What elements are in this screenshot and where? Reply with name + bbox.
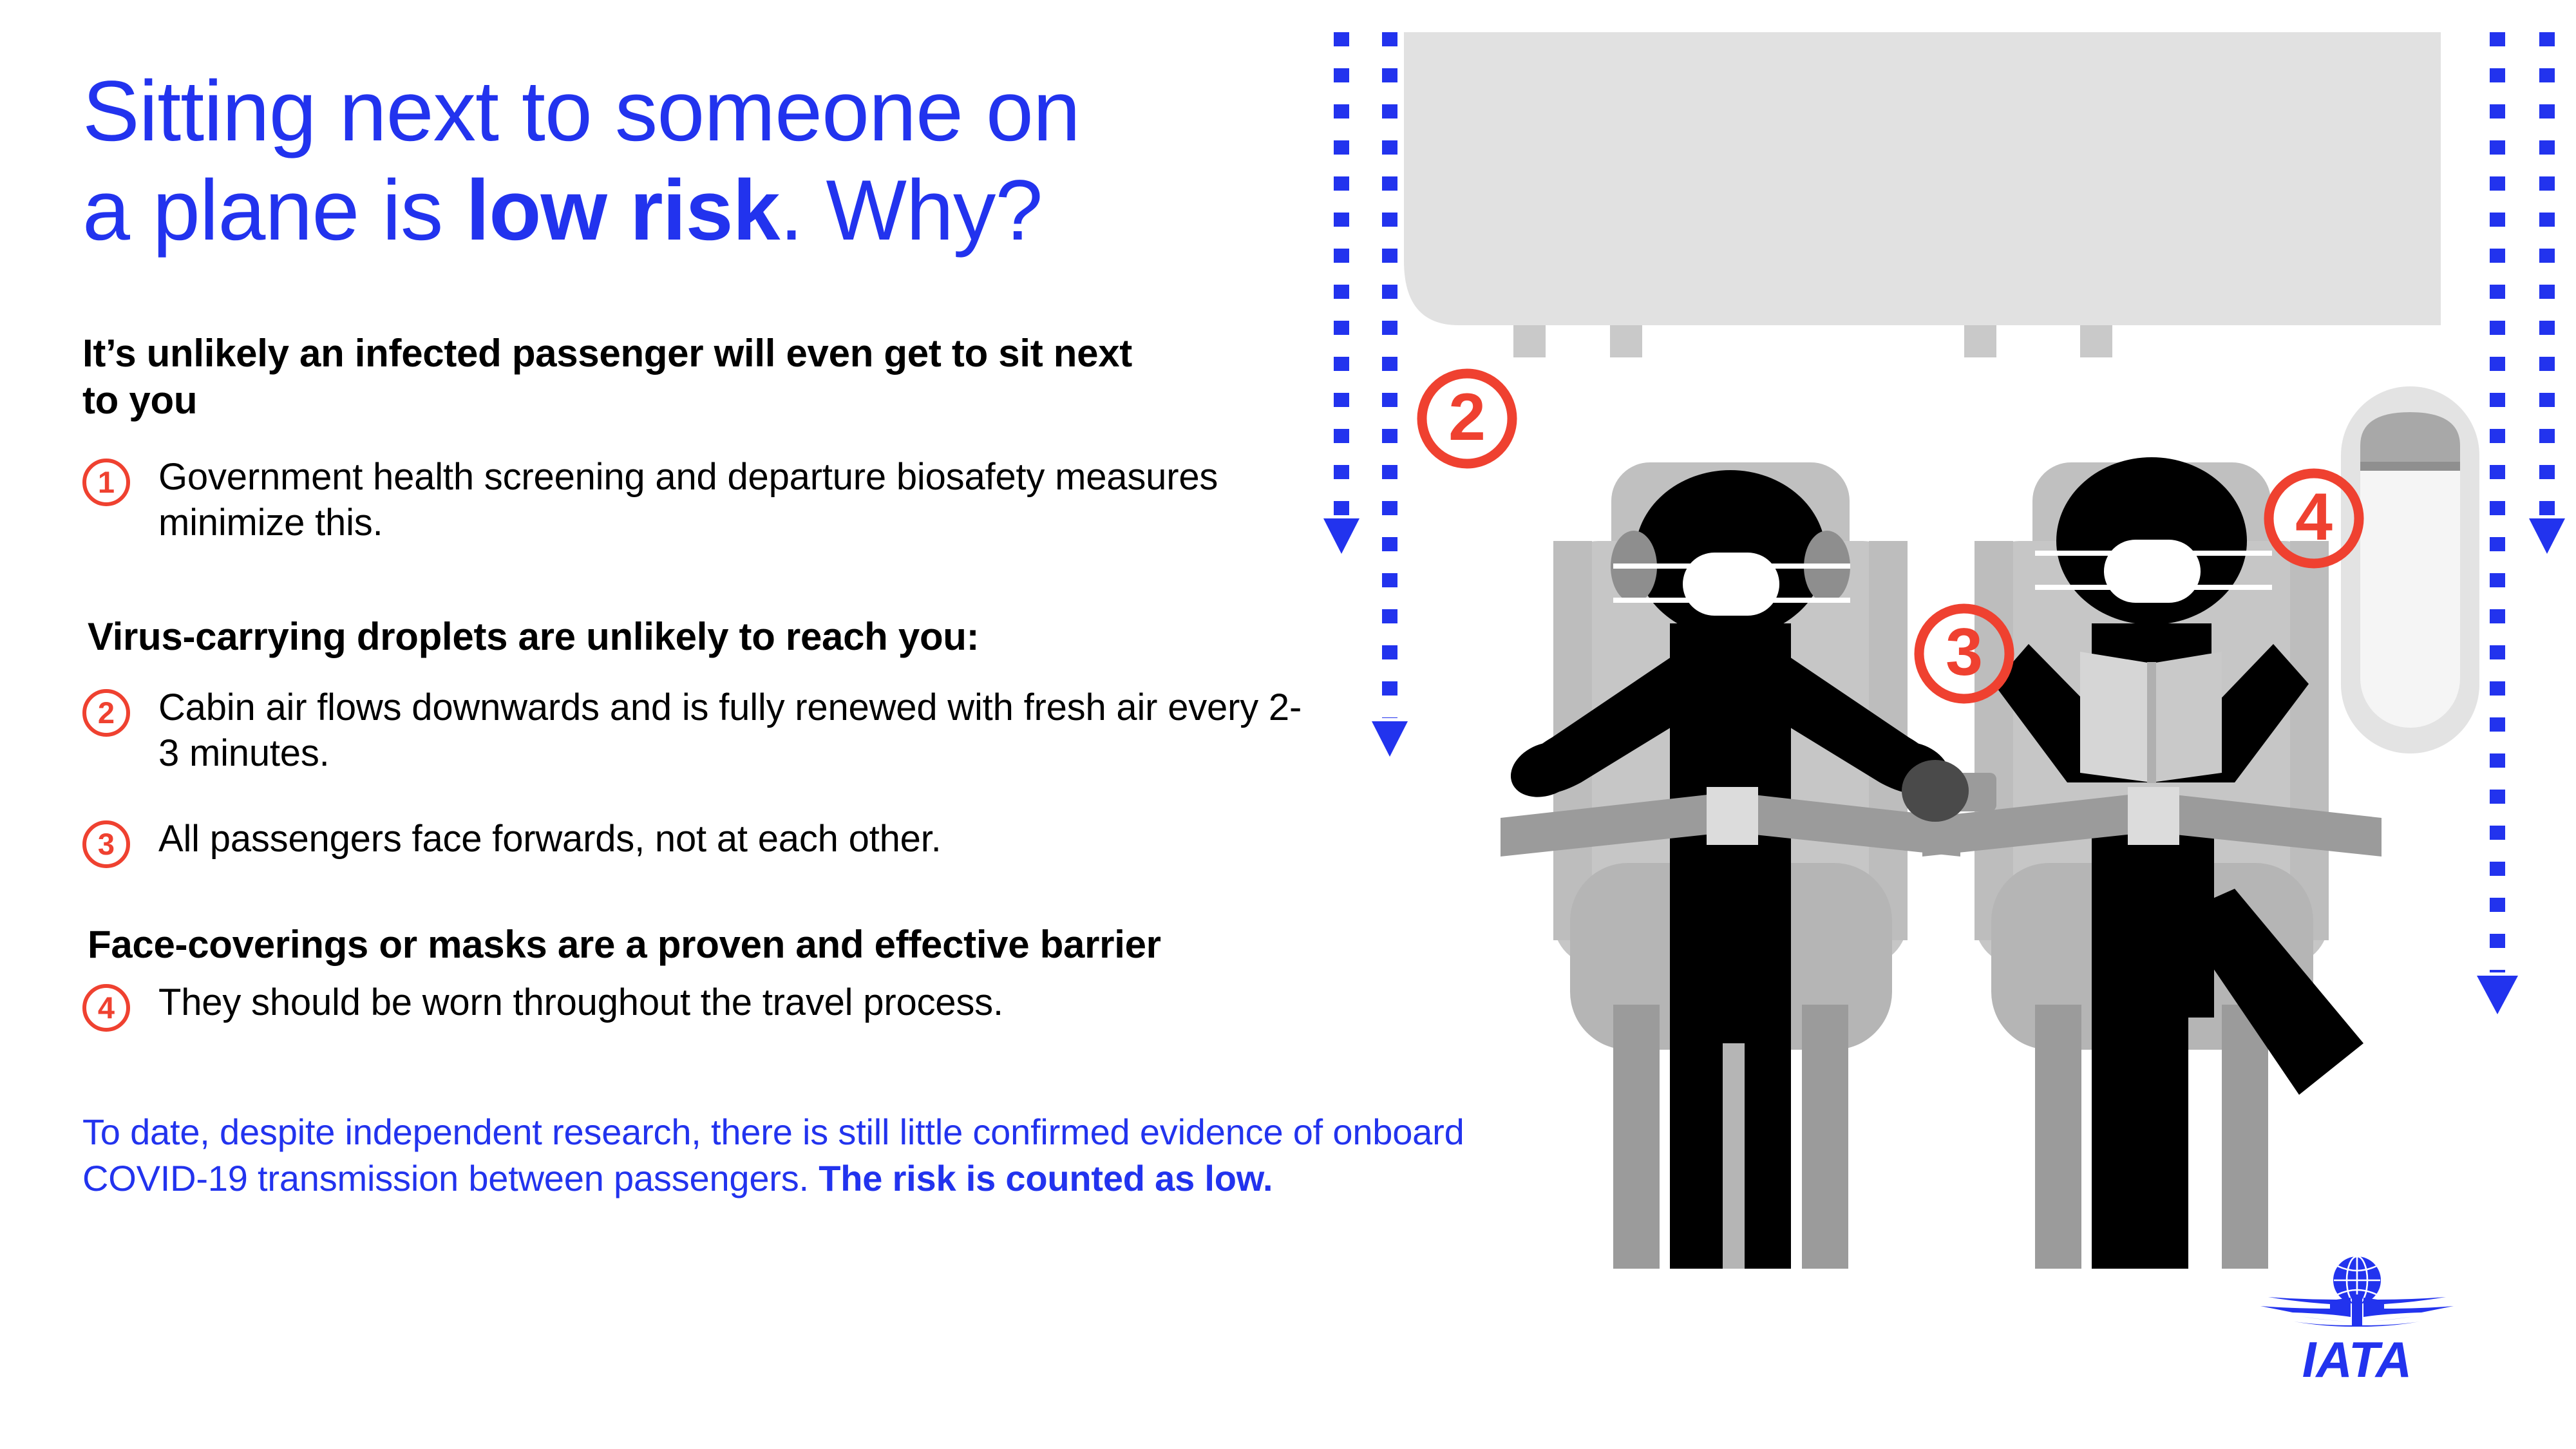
- wings-icon: [2260, 1294, 2454, 1327]
- iata-logo: IATA: [2254, 1249, 2460, 1397]
- overhead-bin-icon: [1404, 32, 2441, 357]
- open-book-icon: [2080, 652, 2222, 783]
- section-heading-2: Virus-carrying droplets are unlikely to …: [88, 613, 1279, 660]
- iata-wordmark: IATA: [2302, 1331, 2412, 1388]
- footnote: To date, despite independent research, t…: [82, 1109, 1538, 1201]
- callout-2-number: 2: [1448, 380, 1486, 455]
- airflow-arrow-left-inner: [1372, 32, 1408, 757]
- list-item-4-text: They should be worn throughout the trave…: [158, 980, 1318, 1026]
- passenger-left: [1501, 462, 1960, 1269]
- cabin-window-icon: [2341, 386, 2479, 753]
- list-item-2-text: Cabin air flows downwards and is fully r…: [158, 685, 1318, 777]
- passenger-right: [1902, 457, 2382, 1269]
- text-column: Sitting next to someone on a plane is lo…: [0, 0, 1533, 1449]
- headline-line-1: Sitting next to someone on: [82, 64, 1080, 159]
- list-item-3-text: All passengers face forwards, not at eac…: [158, 817, 1318, 862]
- callout-4-number: 4: [2295, 480, 2333, 554]
- headline-line-2-prefix: a plane is: [82, 163, 466, 258]
- number-badge-1: 1: [82, 459, 130, 506]
- number-badge-4: 4: [82, 984, 130, 1032]
- callout-3-number: 3: [1946, 615, 1983, 690]
- airflow-arrow-right-outer: [2529, 32, 2565, 554]
- airflow-arrow-right-inner: [2477, 32, 2518, 1014]
- number-badge-3: 3: [82, 820, 130, 868]
- section-heading-1: It’s unlikely an infected passenger will…: [82, 330, 1177, 424]
- cabin-illustration: 2 3 4: [1320, 0, 2576, 1449]
- number-badge-2: 2: [82, 689, 130, 737]
- headline-line-2-suffix: . Why?: [780, 163, 1043, 258]
- list-item-1-text: Government health screening and departur…: [158, 455, 1318, 546]
- headline-emphasis-low-risk: low risk: [466, 163, 779, 258]
- footnote-bold-text: The risk is counted as low.: [819, 1158, 1273, 1198]
- airflow-arrow-left-outer: [1323, 32, 1359, 554]
- page-headline: Sitting next to someone on a plane is lo…: [82, 62, 1370, 261]
- callout-2: 2: [1422, 374, 1512, 464]
